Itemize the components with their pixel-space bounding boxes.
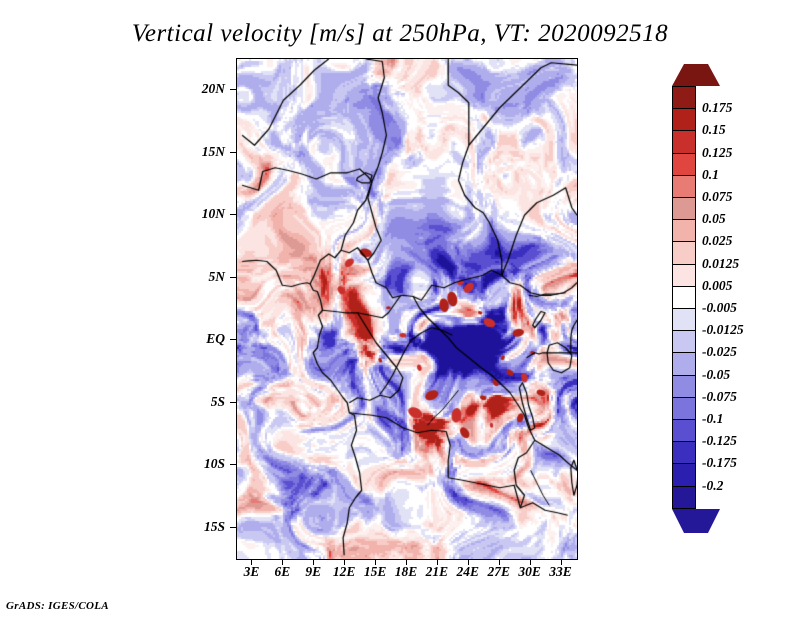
colorbar-label-0.15: 0.15 (702, 122, 726, 138)
x-tick-mark (499, 560, 500, 565)
x-tick-mark (530, 560, 531, 565)
colorbar-segment-13 (672, 375, 696, 399)
x-tick-mark (313, 560, 314, 565)
x-tick-mark (406, 560, 407, 565)
colorbar-segment-4 (672, 175, 696, 199)
x-tick-mark (437, 560, 438, 565)
colorbar-label-0.075: 0.075 (702, 189, 732, 205)
colorbar-segment-17 (672, 463, 696, 487)
x-tick-label-33E: 33E (541, 564, 581, 580)
colorbar-segment-6 (672, 219, 696, 243)
colorbar-segment-15 (672, 419, 696, 443)
colorbar-segment-2 (672, 130, 696, 154)
colorbar-label--0.1: -0.1 (702, 411, 723, 427)
colorbar-segment-8 (672, 264, 696, 288)
colorbar-label--0.125: -0.125 (702, 433, 737, 449)
colorbar-segment-14 (672, 397, 696, 421)
colorbar-label--0.005: -0.005 (702, 300, 737, 316)
colorbar-segment-12 (672, 352, 696, 376)
colorbar-segment-last (672, 486, 696, 510)
x-tick-mark (375, 560, 376, 565)
colorbar-label-0.1: 0.1 (702, 167, 719, 183)
colorbar-label--0.0125: -0.0125 (702, 322, 744, 338)
colorbar-segment-0 (672, 86, 696, 110)
colorbar-segment-3 (672, 153, 696, 177)
colorbar-segment-1 (672, 108, 696, 132)
colorbar-segment-10 (672, 308, 696, 332)
colorbar-label--0.025: -0.025 (702, 344, 737, 360)
x-tick-mark (561, 560, 562, 565)
colorbar-label-0.005: 0.005 (702, 278, 732, 294)
colorbar-arrow-bottom (672, 509, 720, 533)
colorbar-segment-9 (672, 286, 696, 310)
colorbar-label--0.075: -0.075 (702, 389, 737, 405)
colorbar-label-0.175: 0.175 (702, 100, 732, 116)
x-tick-mark (468, 560, 469, 565)
colorbar-segment-16 (672, 441, 696, 465)
colorbar: 0.1750.150.1250.10.0750.050.0250.01250.0… (672, 58, 792, 558)
colorbar-label-0.05: 0.05 (702, 211, 726, 227)
colorbar-label-0.125: 0.125 (702, 145, 732, 161)
colorbar-segment-11 (672, 330, 696, 354)
colorbar-segment-7 (672, 241, 696, 265)
x-tick-mark (282, 560, 283, 565)
colorbar-segment-5 (672, 197, 696, 221)
colorbar-label--0.175: -0.175 (702, 455, 737, 471)
colorbar-arrow-top (672, 64, 720, 86)
colorbar-label--0.2: -0.2 (702, 478, 723, 494)
colorbar-label--0.05: -0.05 (702, 367, 730, 383)
x-tick-mark (251, 560, 252, 565)
colorbar-label-0.025: 0.025 (702, 233, 732, 249)
x-tick-mark (344, 560, 345, 565)
colorbar-label-0.0125: 0.0125 (702, 256, 739, 272)
footer-credit: GrADS: IGES/COLA (6, 600, 109, 612)
